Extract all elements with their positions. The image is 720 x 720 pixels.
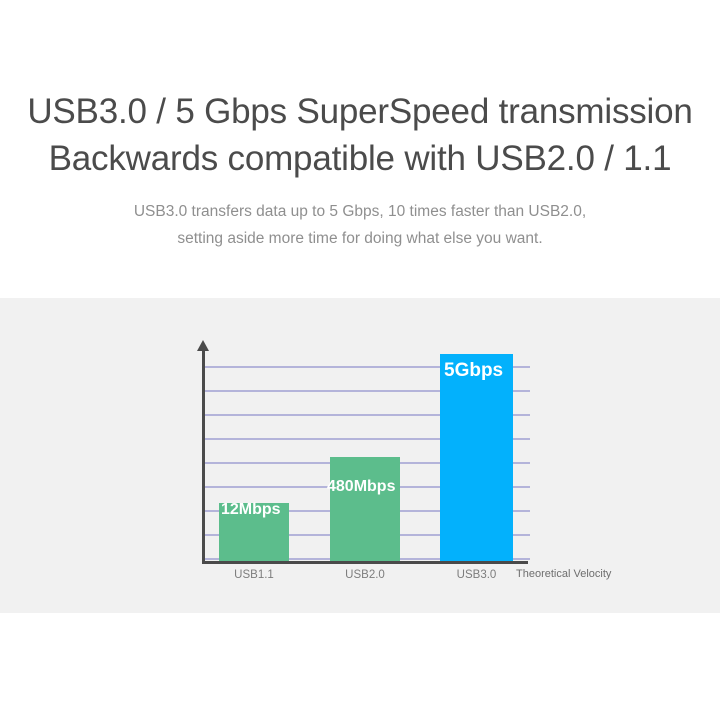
x-axis [202, 561, 528, 564]
y-axis [202, 348, 205, 563]
product-feature-page: USB3.0 / 5 Gbps SuperSpeed transmission … [0, 0, 720, 720]
footer-spacer [0, 613, 720, 720]
x-axis-caption: Theoretical Velocity [516, 568, 611, 580]
y-axis-arrow-icon [197, 340, 209, 351]
x-tick-label-usb2-0: USB2.0 [330, 569, 400, 581]
bar-chart: 12Mbps 480Mbps 5Gbps USB1.1 USB2.0 USB3.… [0, 298, 720, 613]
bar-value-label-usb1-1: 12Mbps [221, 501, 281, 519]
bar-usb3-0 [440, 354, 513, 561]
headline-line-2: Backwards compatible with USB2.0 / 1.1 [0, 135, 720, 182]
x-tick-label-usb3-0: USB3.0 [440, 569, 513, 581]
page-subtitle: USB3.0 transfers data up to 5 Gbps, 10 t… [0, 198, 720, 252]
bar-usb2-0 [330, 457, 400, 561]
subhead-line-1: USB3.0 transfers data up to 5 Gbps, 10 t… [0, 198, 720, 225]
bar-value-label-usb2-0: 480Mbps [327, 478, 395, 496]
headline-line-1: USB3.0 / 5 Gbps SuperSpeed transmission [0, 88, 720, 135]
x-tick-label-usb1-1: USB1.1 [219, 569, 289, 581]
subhead-line-2: setting aside more time for doing what e… [0, 225, 720, 252]
chart-section: 12Mbps 480Mbps 5Gbps USB1.1 USB2.0 USB3.… [0, 298, 720, 613]
bar-value-label-usb3-0: 5Gbps [444, 360, 503, 382]
header-section: USB3.0 / 5 Gbps SuperSpeed transmission … [0, 0, 720, 298]
page-title: USB3.0 / 5 Gbps SuperSpeed transmission … [0, 88, 720, 182]
